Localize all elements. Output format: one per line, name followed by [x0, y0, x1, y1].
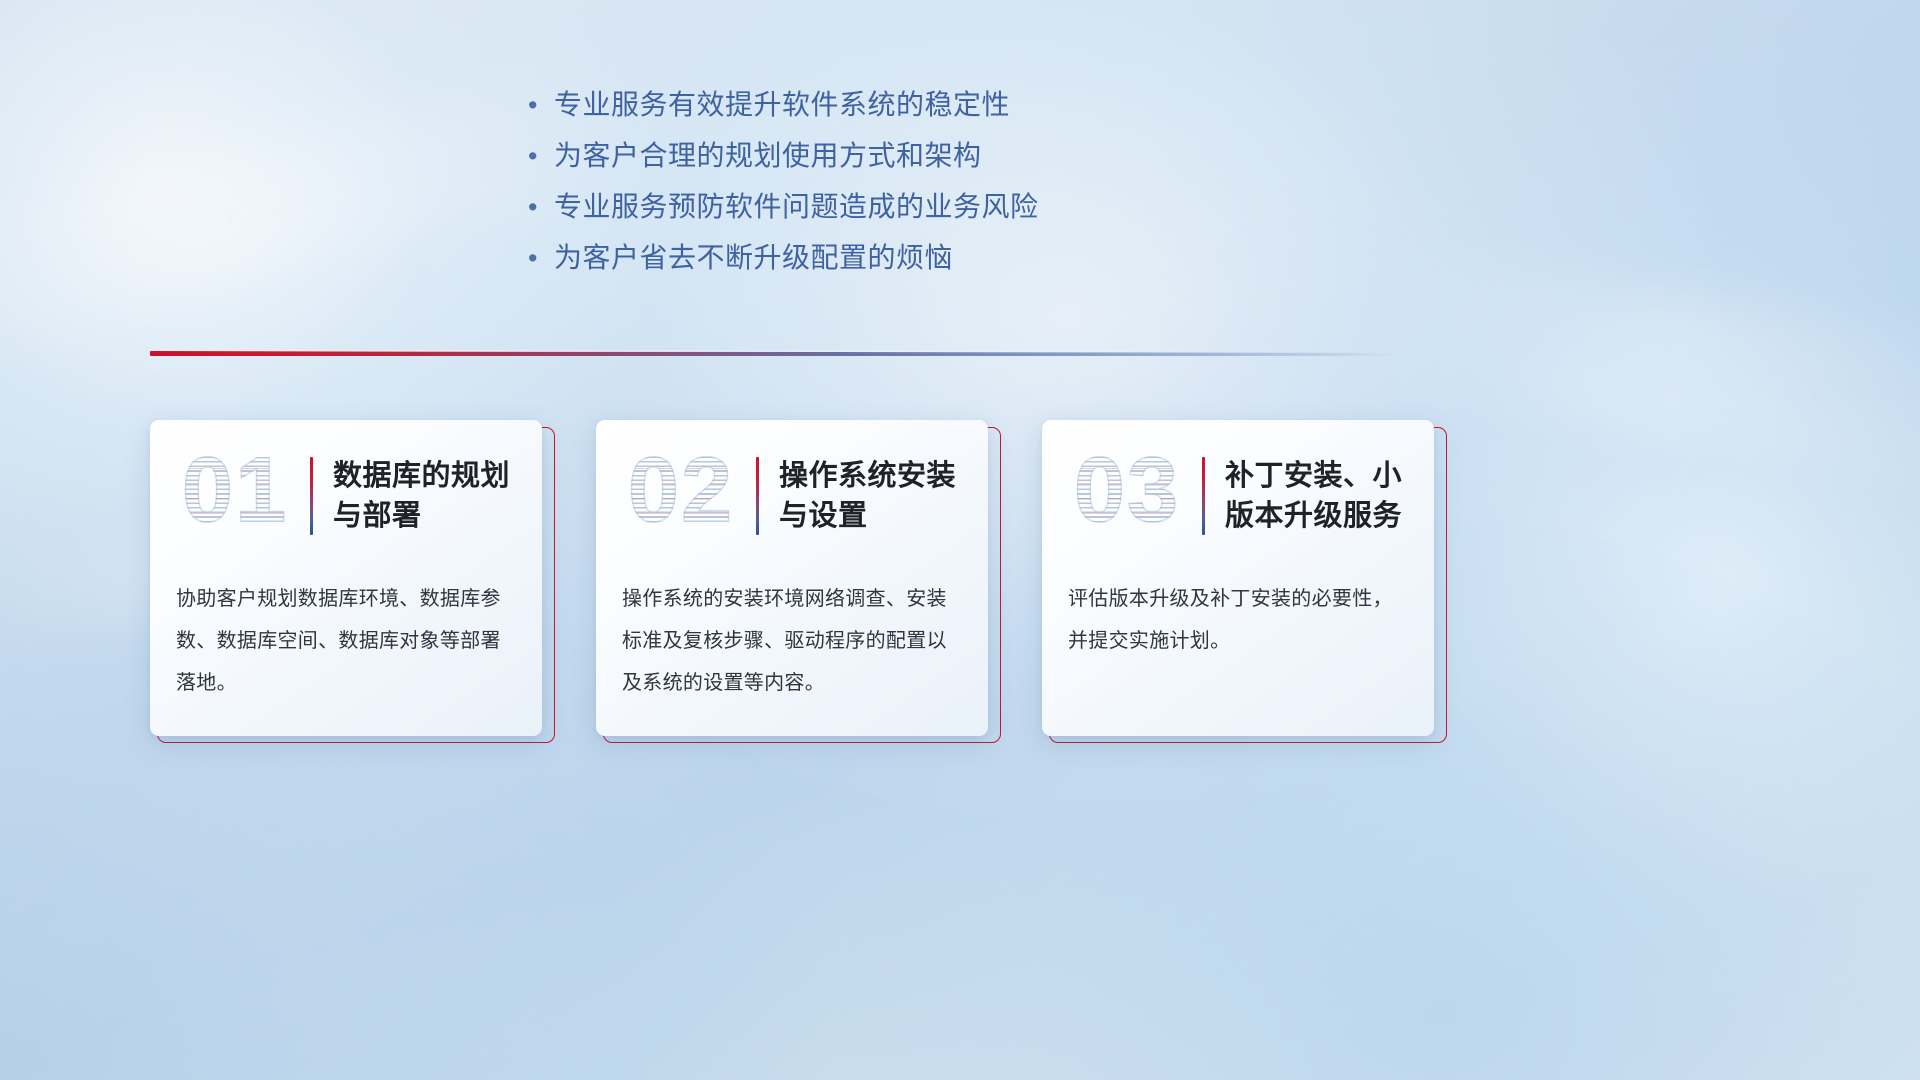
bullet-item-label: 专业服务有效提升软件系统的稳定性: [554, 88, 1010, 122]
card-row: 01 01 数据库的规划与部署 协助客户规划数据库环境、数据库参数、数据库空间、…: [150, 420, 1770, 750]
card-number-watermark: 02 02: [618, 444, 744, 548]
card-body-text: 协助客户规划数据库环境、数据库参数、数据库空间、数据库对象等部署落地。: [150, 572, 542, 704]
service-card-02[interactable]: 02 02 操作系统安装与设置 操作系统的安装环境网络调查、安装标准及复核步骤、…: [596, 420, 994, 742]
card-header: 01 01 数据库的规划与部署: [150, 420, 542, 572]
bullet-item-label: 专业服务预防软件问题造成的业务风险: [554, 190, 1039, 224]
card-number-tint: 02: [618, 438, 744, 542]
card-surface: 02 02 操作系统安装与设置 操作系统的安装环境网络调查、安装标准及复核步骤、…: [596, 420, 988, 736]
divider-highlight: [150, 350, 1400, 352]
card-number-watermark: 03 03: [1064, 444, 1190, 548]
gradient-divider: [150, 345, 1400, 365]
card-surface: 03 03 补丁安装、小版本升级服务 评估版本升级及补丁安装的必要性，并提交实施…: [1042, 420, 1434, 736]
bullet-item-label: 为客户合理的规划使用方式和架构: [554, 139, 982, 173]
bullet-dot-icon: •: [520, 190, 554, 224]
bullet-item-4: • 为客户省去不断升级配置的烦恼: [520, 241, 1420, 275]
card-title: 操作系统安装与设置: [779, 456, 972, 536]
card-title: 数据库的规划与部署: [333, 456, 526, 536]
card-surface: 01 01 数据库的规划与部署 协助客户规划数据库环境、数据库参数、数据库空间、…: [150, 420, 542, 736]
card-title: 补丁安装、小版本升级服务: [1225, 456, 1418, 536]
service-card-01[interactable]: 01 01 数据库的规划与部署 协助客户规划数据库环境、数据库参数、数据库空间、…: [150, 420, 548, 742]
bullet-list: • 专业服务有效提升软件系统的稳定性 • 为客户合理的规划使用方式和架构 • 专…: [520, 88, 1420, 292]
card-accent-bar: [310, 457, 313, 535]
card-number-watermark: 01 01: [172, 444, 298, 548]
bullet-item-1: • 专业服务有效提升软件系统的稳定性: [520, 88, 1420, 122]
bullet-dot-icon: •: [520, 241, 554, 275]
card-body-text: 评估版本升级及补丁安装的必要性，并提交实施计划。: [1042, 572, 1434, 662]
card-accent-bar: [1202, 457, 1205, 535]
bullet-dot-icon: •: [520, 139, 554, 173]
bullet-item-label: 为客户省去不断升级配置的烦恼: [554, 241, 953, 275]
service-card-03[interactable]: 03 03 补丁安装、小版本升级服务 评估版本升级及补丁安装的必要性，并提交实施…: [1042, 420, 1440, 742]
bullet-dot-icon: •: [520, 88, 554, 122]
card-accent-bar: [756, 457, 759, 535]
card-number-tint: 03: [1064, 438, 1190, 542]
card-header: 03 03 补丁安装、小版本升级服务: [1042, 420, 1434, 572]
card-number-tint: 01: [172, 438, 298, 542]
card-body-text: 操作系统的安装环境网络调查、安装标准及复核步骤、驱动程序的配置以及系统的设置等内…: [596, 572, 988, 704]
card-header: 02 02 操作系统安装与设置: [596, 420, 988, 572]
bullet-item-2: • 为客户合理的规划使用方式和架构: [520, 139, 1420, 173]
bullet-item-3: • 专业服务预防软件问题造成的业务风险: [520, 190, 1420, 224]
slide-canvas: • 专业服务有效提升软件系统的稳定性 • 为客户合理的规划使用方式和架构 • 专…: [0, 0, 1920, 1080]
